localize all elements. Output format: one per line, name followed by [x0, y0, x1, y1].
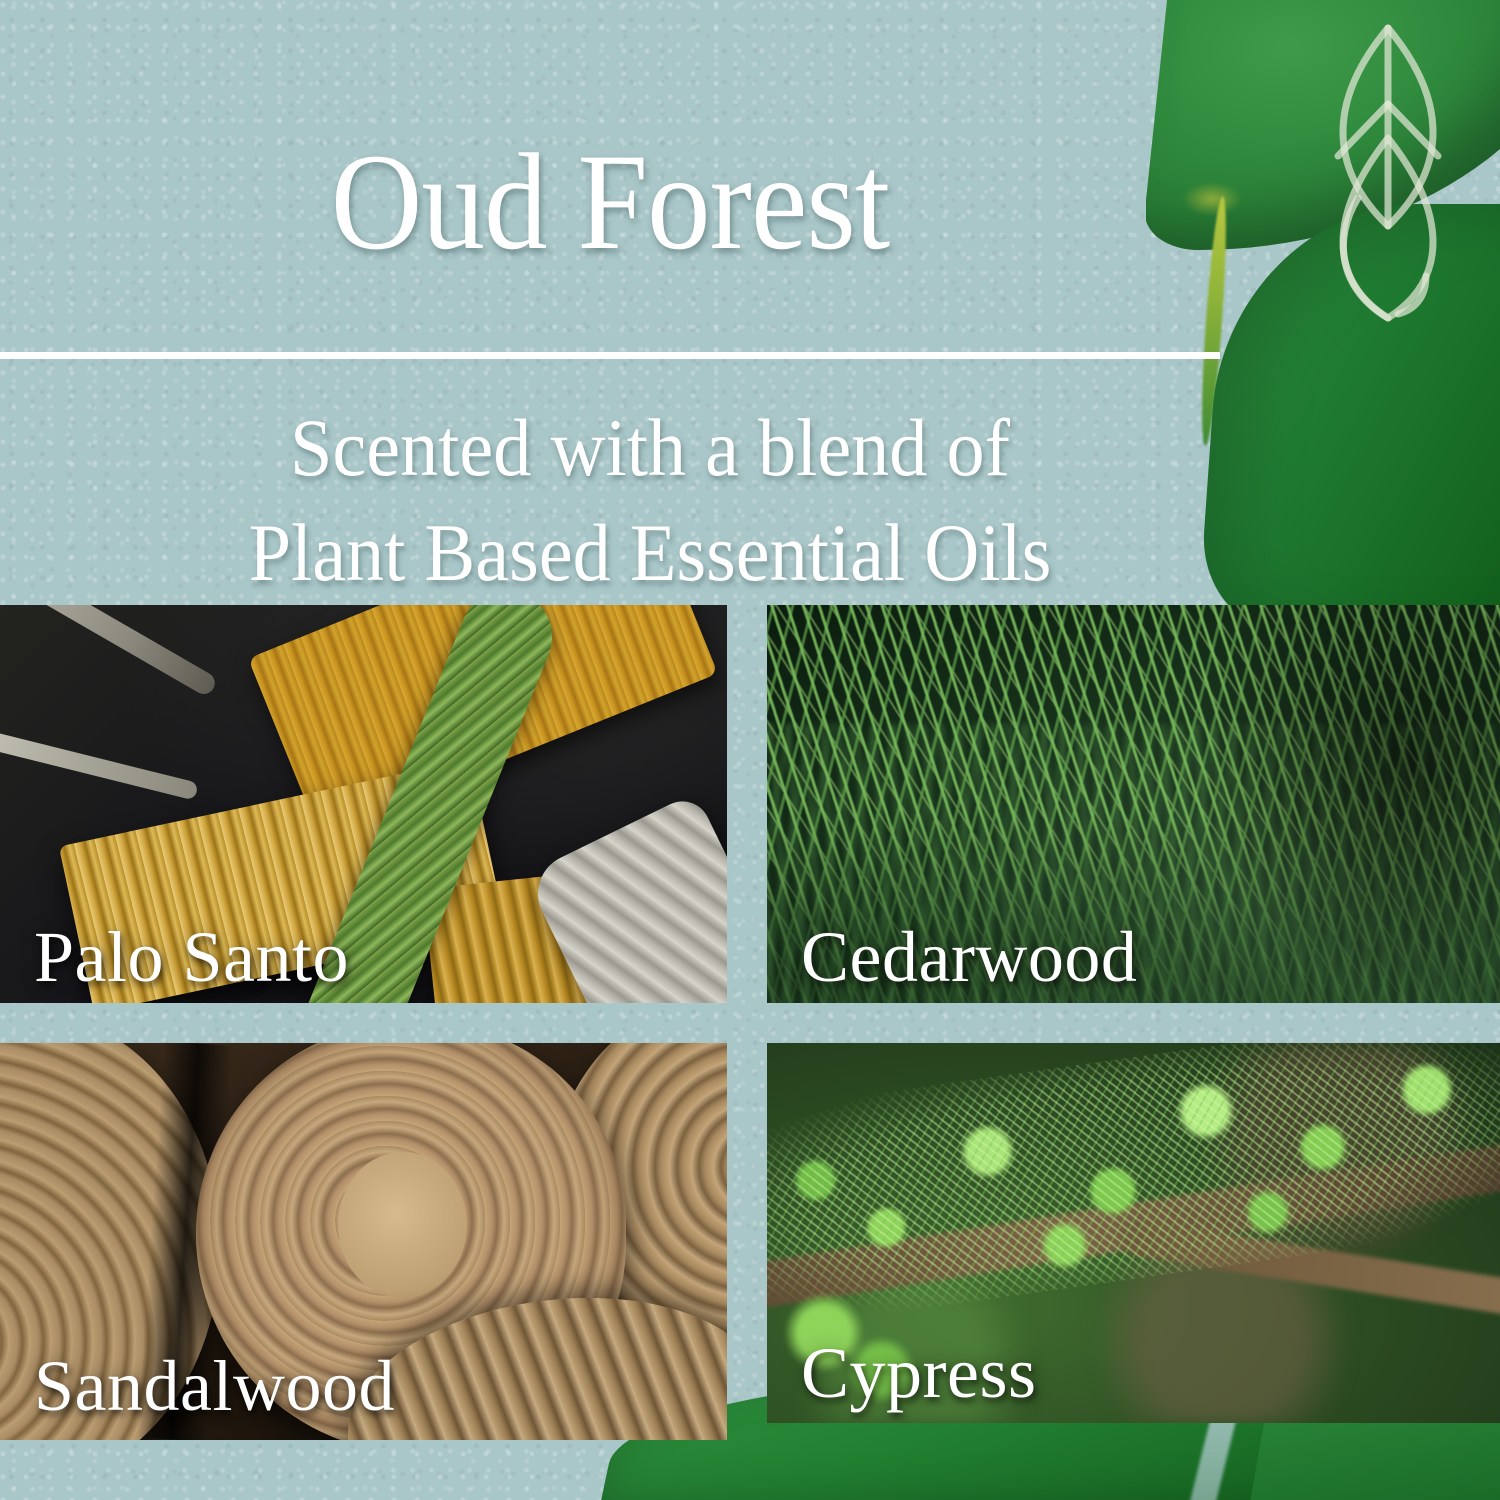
- ingredient-label-cedarwood: Cedarwood: [801, 921, 1137, 993]
- subtitle-line-1: Scented with a blend of: [46, 396, 1255, 501]
- ingredient-label-sandalwood: Sandalwood: [34, 1350, 395, 1422]
- cedar-shadow-right: [1192, 605, 1500, 1003]
- palo-twig-upper: [0, 605, 219, 698]
- ingredient-label-palo-santo: Palo Santo: [34, 921, 349, 993]
- ingredient-card-sandalwood: Sandalwood: [0, 1043, 727, 1440]
- ingredient-card-palo-santo: Palo Santo: [0, 605, 727, 1003]
- page-subtitle: Scented with a blend of Plant Based Esse…: [46, 396, 1255, 606]
- ingredient-card-cypress: Cypress: [767, 1043, 1500, 1423]
- leaf-droplet-logo-icon: [1298, 18, 1478, 338]
- page-title: Oud Forest: [49, 132, 1171, 273]
- leaf-notch: [1182, 182, 1242, 216]
- ingredient-label-cypress: Cypress: [801, 1337, 1037, 1409]
- header-divider: [0, 352, 1220, 359]
- leaf-blade-upper: [1146, 0, 1500, 250]
- palo-twig-lower: [0, 727, 199, 800]
- ingredient-card-cedarwood: Cedarwood: [767, 605, 1500, 1003]
- subtitle-line-2: Plant Based Essential Oils: [46, 501, 1255, 606]
- product-feature-graphic: Oud Forest Scented with a blend of Plant…: [0, 0, 1500, 1500]
